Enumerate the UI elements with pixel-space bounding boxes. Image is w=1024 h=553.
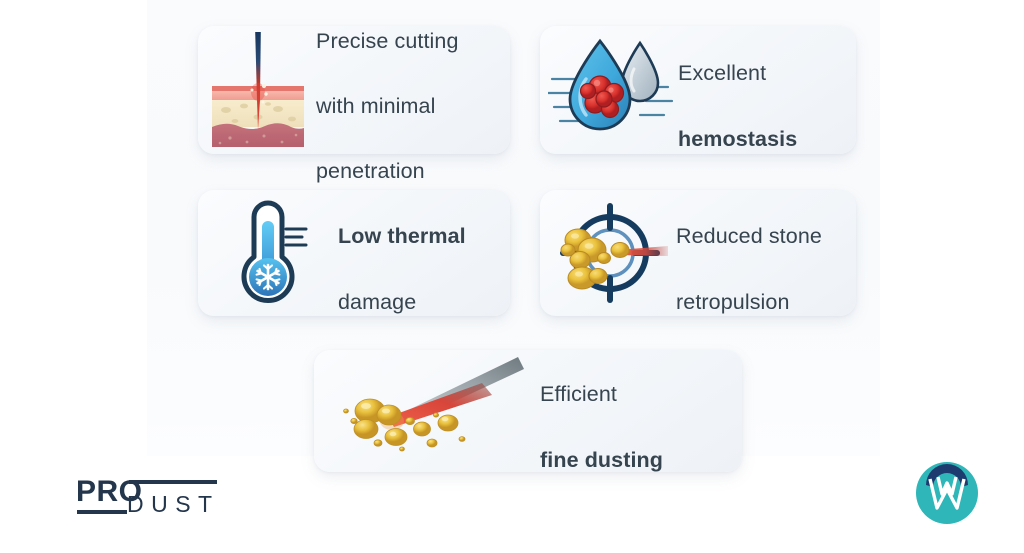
label-line-1: Reduced stone (676, 224, 822, 248)
label-line-3: penetration (316, 159, 425, 183)
feature-card-precise-cutting[interactable]: Precise cutting with minimal penetration (198, 26, 510, 154)
feature-card-label: Efficient fine dusting (540, 346, 663, 477)
w-monogram-logo (915, 461, 979, 525)
label-line-2: hemostasis (678, 127, 797, 151)
produst-wordmark: PRO DUST (76, 477, 226, 523)
feature-card-hemostasis[interactable]: Excellent hemostasis (540, 26, 856, 154)
skin-laser-penetration-icon (202, 30, 314, 150)
feature-card-label: Precise cutting with minimal penetration (316, 0, 459, 188)
wordmark-rule-bottom (77, 510, 127, 514)
label-line-1: Low thermal (338, 224, 466, 248)
feature-card-label: Reduced stone retropulsion (676, 188, 822, 319)
laser-dusting-particles-icon (332, 353, 524, 469)
feature-card-efficient-fine-dusting[interactable]: Efficient fine dusting (314, 350, 742, 472)
label-line-2: damage (338, 290, 416, 314)
label-line-1: Precise cutting (316, 29, 459, 53)
wordmark-dust: DUST (127, 493, 220, 516)
feature-card-label: Excellent hemostasis (678, 25, 797, 156)
label-line-1: Efficient (540, 382, 617, 406)
label-line-2: retropulsion (676, 290, 790, 314)
label-line-2: fine dusting (540, 448, 663, 472)
feature-card-reduced-stone-retropulsion[interactable]: Reduced stone retropulsion (540, 190, 856, 316)
label-line-2: with minimal (316, 94, 435, 118)
feature-card-low-thermal-damage[interactable]: Low thermal damage (198, 190, 510, 316)
blood-droplet-icon (548, 35, 674, 145)
label-line-1: Excellent (678, 61, 766, 85)
slide-canvas: Precise cutting with minimal penetration (0, 0, 1024, 553)
thermometer-snowflake-icon (212, 195, 332, 311)
crosshair-stone-fragments-icon (548, 198, 668, 308)
feature-card-label: Low thermal damage (338, 188, 466, 319)
